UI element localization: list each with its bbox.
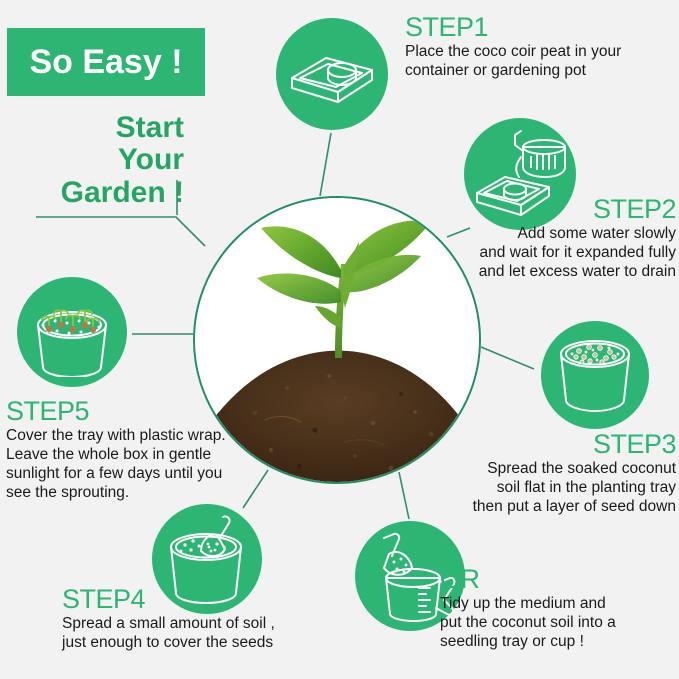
step3-text-block: STEP3 Spread the soaked coconut soil fla… <box>455 431 676 517</box>
step2-description: Add some water slowly and wait for it ex… <box>418 225 676 282</box>
or-label: OR <box>440 566 678 593</box>
step1-description: Place the coco coir peat in your contain… <box>405 43 677 81</box>
step1-icon-circle <box>276 18 388 130</box>
step4-text-block: STEP4 Spread a small amount of soil , ju… <box>62 586 332 653</box>
step5-label: STEP5 <box>6 398 246 425</box>
infographic-root: So Easy ! Start Your Garden ! <box>0 0 679 679</box>
page-title-line-3: Garden ! <box>12 177 184 209</box>
page-title-line-1: Start <box>12 112 184 144</box>
page-title: Start Your Garden ! <box>12 112 184 209</box>
step5-text-block: STEP5 Cover the tray with plastic wrap. … <box>6 398 246 503</box>
step3-label: STEP3 <box>455 431 676 458</box>
step3-description: Spread the soaked coconut soil flat in t… <box>455 460 676 517</box>
so-easy-banner: So Easy ! <box>7 28 205 96</box>
step2-text-block: STEP2 Add some water slowly and wait for… <box>418 196 676 282</box>
step1-label: STEP1 <box>405 14 677 41</box>
pot-with-sprouts-icon <box>27 287 117 377</box>
so-easy-banner-text: So Easy ! <box>29 43 182 82</box>
step2-label: STEP2 <box>418 196 676 223</box>
pot-with-seeds-icon <box>552 332 638 418</box>
tray-with-coir-puck-icon <box>286 28 378 120</box>
step3-icon-circle <box>541 321 649 429</box>
page-title-line-2: Your <box>12 144 184 176</box>
step4-label: STEP4 <box>62 586 332 613</box>
or-description: Tidy up the medium and put the coconut s… <box>440 595 678 652</box>
step1-text-block: STEP1 Place the coco coir peat in your c… <box>405 14 677 81</box>
step5-icon-circle <box>17 277 127 387</box>
step5-description: Cover the tray with plastic wrap. Leave … <box>6 427 246 503</box>
or-text-block: OR Tidy up the medium and put the coconu… <box>440 566 678 652</box>
step4-description: Spread a small amount of soil , just eno… <box>62 615 332 653</box>
